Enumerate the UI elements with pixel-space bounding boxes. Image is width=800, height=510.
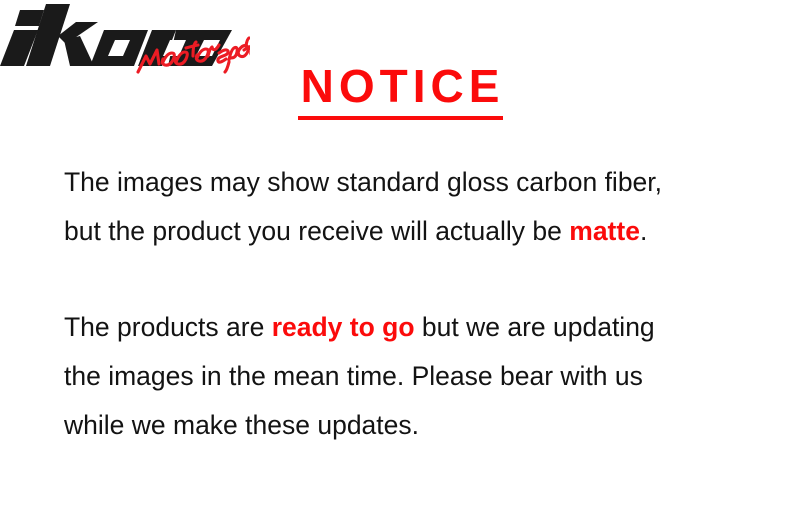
notice-title-underline	[298, 116, 503, 120]
notice-p2-line3: while we make these updates.	[64, 410, 419, 440]
notice-p2-line1-after: but we are updating	[415, 312, 655, 342]
notice-paragraph-1: The images may show standard gloss carbo…	[64, 158, 764, 256]
notice-p1-line2-after: .	[640, 216, 647, 246]
notice-body: The images may show standard gloss carbo…	[64, 158, 764, 450]
notice-heading-block: NOTICE	[0, 60, 800, 120]
page-title: NOTICE	[296, 60, 505, 112]
notice-p2-line1-before: The products are	[64, 312, 272, 342]
notice-p2-line2: the images in the mean time. Please bear…	[64, 361, 643, 391]
highlight-ready-to-go: ready to go	[272, 312, 415, 342]
notice-paragraph-2: The products are ready to go but we are …	[64, 303, 764, 450]
notice-p1-line2-before: but the product you receive will actuall…	[64, 216, 569, 246]
highlight-matte: matte	[569, 216, 640, 246]
notice-p1-line1: The images may show standard gloss carbo…	[64, 167, 662, 197]
